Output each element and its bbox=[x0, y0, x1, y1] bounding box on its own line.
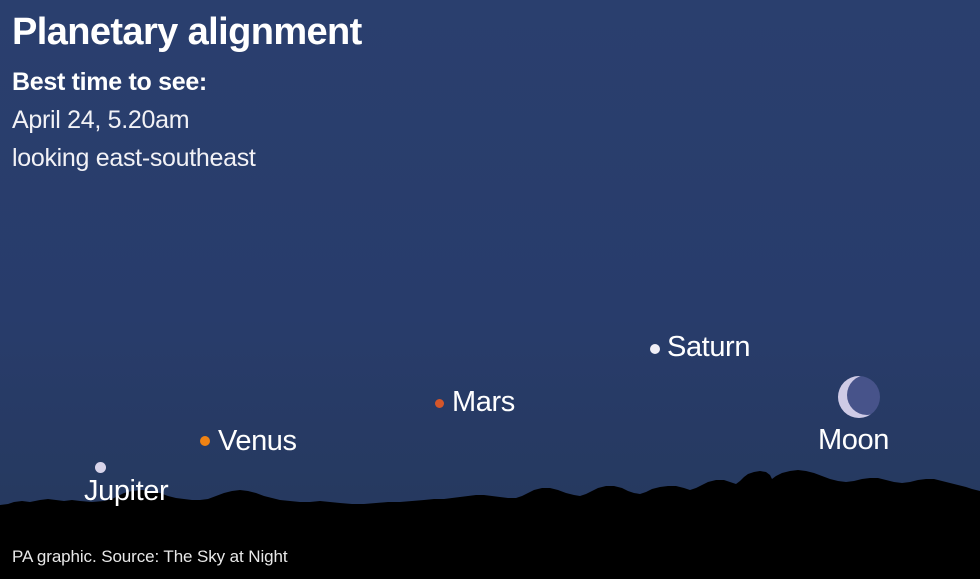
mars-label: Mars bbox=[452, 388, 515, 417]
jupiter-dot-icon bbox=[95, 462, 106, 473]
venus-dot-icon bbox=[200, 436, 210, 446]
page-title: Planetary alignment bbox=[12, 12, 362, 54]
venus-label: Venus bbox=[218, 427, 297, 456]
viewing-direction: looking east-southeast bbox=[12, 146, 256, 171]
source-credit: PA graphic. Source: The Sky at Night bbox=[12, 547, 287, 567]
best-time-heading: Best time to see: bbox=[12, 70, 207, 95]
jupiter-label: Jupiter bbox=[84, 477, 168, 506]
best-time-date: April 24, 5.20am bbox=[12, 108, 189, 133]
moon-crescent-icon bbox=[838, 376, 880, 418]
footer-bar: PA graphic. Source: The Sky at Night bbox=[0, 517, 980, 579]
mars-dot-icon bbox=[435, 399, 444, 408]
planetary-alignment-graphic: Planetary alignment Best time to see: Ap… bbox=[0, 0, 980, 579]
moon-label: Moon bbox=[818, 426, 889, 455]
saturn-label: Saturn bbox=[667, 333, 750, 362]
saturn-dot-icon bbox=[650, 344, 660, 354]
